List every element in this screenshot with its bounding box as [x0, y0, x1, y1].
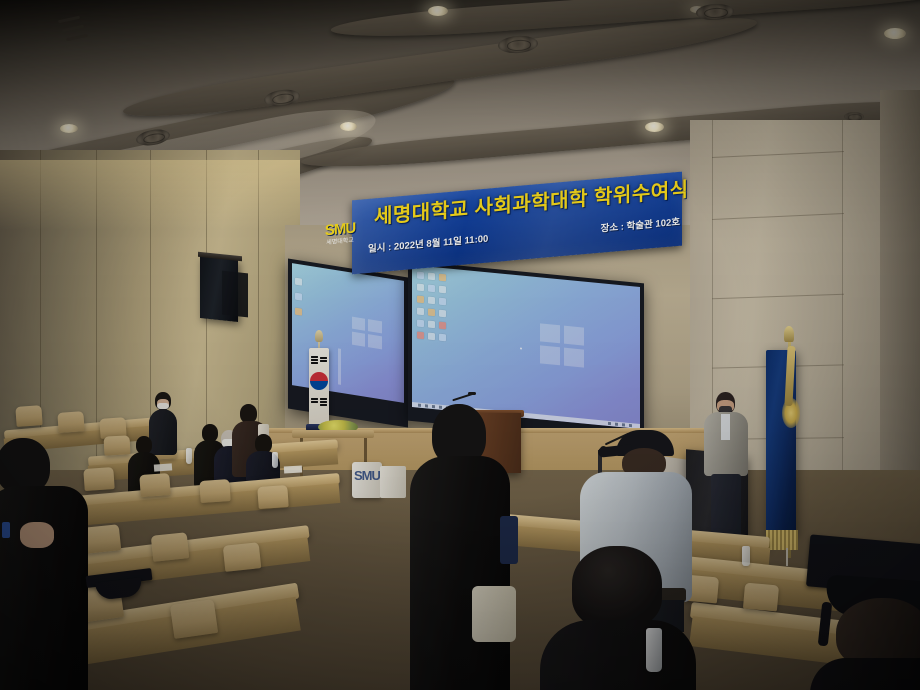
desktop-icon[interactable]	[428, 273, 435, 281]
desktop-icon[interactable]	[417, 296, 424, 304]
lanyard-badge	[2, 522, 10, 538]
ceiling-slot-vent	[66, 34, 88, 42]
desktop-icon[interactable]	[295, 293, 302, 301]
desktop-icon[interactable]	[439, 310, 446, 318]
ceiling-slot-vent	[58, 16, 80, 24]
chair	[15, 405, 42, 427]
desktop-icon[interactable]	[439, 334, 446, 342]
desktop-icon[interactable]	[428, 309, 435, 317]
desktop-icon[interactable]	[428, 321, 435, 329]
desktop-icon[interactable]	[417, 332, 424, 340]
downlight-icon	[428, 6, 448, 16]
wall-speaker-icon	[222, 271, 248, 318]
university-logo: SMU 세명대학교	[320, 220, 360, 257]
windows-logo-icon	[352, 317, 382, 350]
desktop-icon[interactable]	[428, 297, 435, 305]
chair	[199, 479, 230, 503]
desktop-icon[interactable]	[295, 278, 302, 286]
desktop-icon[interactable]	[295, 308, 302, 316]
desktop-icon[interactable]	[439, 286, 446, 294]
chair	[139, 473, 170, 497]
downlight-icon	[645, 122, 664, 132]
logo-wordmark: SMU	[320, 220, 360, 238]
tote-bag	[472, 586, 516, 642]
downlight-icon	[884, 28, 906, 39]
desktop-icon[interactable]	[428, 333, 435, 341]
mouse-cursor-icon	[520, 347, 522, 349]
chair	[57, 411, 84, 433]
microphone-head-icon	[468, 392, 476, 395]
water-bottle-icon	[646, 628, 662, 672]
water-bottle-icon	[272, 452, 278, 468]
presenter-shirt	[721, 414, 730, 440]
desktop-icon[interactable]	[439, 298, 446, 306]
chair	[223, 542, 262, 572]
presenter-trousers	[711, 474, 741, 536]
rolled-banner-prop	[380, 466, 406, 498]
desktop-icon[interactable]	[417, 308, 424, 316]
korean-flag-taegukgi	[309, 348, 329, 428]
desktop-icon[interactable]	[417, 284, 424, 292]
chair	[151, 532, 190, 562]
taeguk-symbol-icon	[310, 372, 328, 390]
foreground-person-bottom-center	[540, 546, 696, 690]
downlight-icon	[60, 124, 78, 133]
lecture-hall-photo: 세명대학교 사회과학대학 학위수여식 일시 : 2022년 8월 11일 11:…	[0, 0, 920, 690]
desktop-icon[interactable]	[439, 274, 446, 282]
stage-table	[292, 430, 374, 438]
chair	[170, 599, 218, 639]
wall-uplight-glow	[0, 160, 300, 230]
desktop-icon[interactable]	[439, 322, 446, 330]
flag-finial-icon	[784, 326, 794, 342]
water-bottle-icon	[742, 546, 750, 566]
desktop-icon[interactable]	[417, 272, 424, 280]
foreground-graduate-center	[404, 404, 516, 690]
foreground-graduate-right	[800, 540, 920, 690]
chair	[104, 435, 131, 455]
shoulder-strap	[500, 516, 518, 564]
desktop-icon[interactable]	[428, 285, 435, 293]
desktop-icon[interactable]	[417, 320, 424, 328]
paper-sheet	[154, 463, 172, 471]
flag-fringe	[766, 530, 798, 550]
screen-artifact	[338, 348, 341, 384]
water-bottle-icon	[186, 448, 192, 464]
windows-logo-icon	[540, 323, 584, 367]
chair	[257, 485, 288, 509]
paper-sheet	[284, 466, 302, 474]
downlight-icon	[340, 122, 357, 131]
flag-finial-icon	[315, 330, 323, 342]
prop-logo-wordmark: SMU	[354, 468, 376, 484]
cap-tassel-icon	[818, 602, 833, 647]
hand	[20, 522, 54, 548]
foreground-graduate-left	[0, 438, 94, 690]
ceiling-slot-vent	[62, 25, 84, 33]
chair	[743, 583, 779, 612]
